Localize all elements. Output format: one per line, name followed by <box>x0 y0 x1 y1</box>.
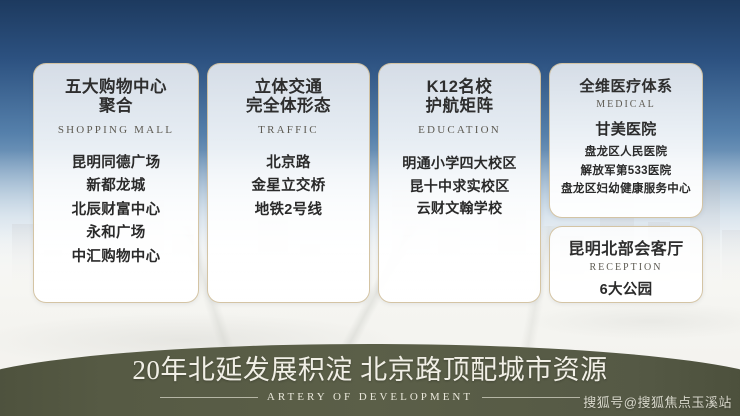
card-shopping-mall: 五大购物中心 聚合 SHOPPING MALL 昆明同德广场 新都龙城 北辰财富… <box>33 63 199 303</box>
list-item: 金星立交桥 <box>208 175 369 198</box>
list-item: 北辰财富中心 <box>34 199 198 222</box>
card-title-reception: 昆明北部会客厅 <box>550 241 702 260</box>
list-item: 云财文翰学校 <box>379 197 540 220</box>
list-item: 盘龙区人民医院 <box>550 143 702 161</box>
card-subtitle-reception: RECEPTION <box>550 262 702 273</box>
card-title-line1: 全维医疗体系 <box>550 78 702 96</box>
banner-rule-right <box>482 397 580 398</box>
card-title-shopping: 五大购物中心 聚合 <box>34 78 198 117</box>
card-medical: 全维医疗体系 MEDICAL 甘美医院 盘龙区人民医院 解放军第533医院 盘龙… <box>549 63 703 218</box>
card-subtitle-traffic: TRAFFIC <box>208 124 369 136</box>
card-title-medical: 全维医疗体系 <box>550 78 702 96</box>
list-item-lead: 甘美医院 <box>550 118 702 142</box>
card-items-medical: 甘美医院 盘龙区人民医院 解放军第533医院 盘龙区妇幼健康服务中心 <box>550 118 702 198</box>
card-title-line1: 立体交通 <box>208 78 369 97</box>
list-item: 昆明同德广场 <box>34 152 198 175</box>
list-item: 永和广场 <box>34 222 198 245</box>
banner-rule-left <box>160 397 258 398</box>
card-subtitle-shopping: SHOPPING MALL <box>34 124 198 136</box>
list-item: 地铁2号线 <box>208 199 369 222</box>
card-items-traffic: 北京路 金星立交桥 地铁2号线 <box>208 152 369 222</box>
card-reception: 昆明北部会客厅 RECEPTION 6大公园 <box>549 226 703 303</box>
card-title-traffic: 立体交通 完全体形态 <box>208 78 369 117</box>
card-title-line1: 五大购物中心 <box>34 78 198 97</box>
card-title-education: K12名校 护航矩阵 <box>379 78 540 117</box>
card-education: K12名校 护航矩阵 EDUCATION 明通小学四大校区 昆十中求实校区 云财… <box>378 63 541 303</box>
list-item: 昆十中求实校区 <box>379 175 540 198</box>
list-item: 盘龙区妇幼健康服务中心 <box>550 180 702 198</box>
banner-subtitle-row: ARTERY OF DEVELOPMENT <box>160 391 580 403</box>
card-title-line2: 护航矩阵 <box>379 97 540 116</box>
card-title-line1: 昆明北部会客厅 <box>550 241 702 260</box>
card-items-education: 明通小学四大校区 昆十中求实校区 云财文翰学校 <box>379 152 540 220</box>
list-item: 新都龙城 <box>34 175 198 198</box>
list-item: 中汇购物中心 <box>34 246 198 269</box>
list-item: 北京路 <box>208 152 369 175</box>
list-item: 6大公园 <box>550 279 702 302</box>
card-items-reception: 6大公园 <box>550 279 702 302</box>
list-item: 明通小学四大校区 <box>379 152 540 175</box>
card-title-line2: 完全体形态 <box>208 97 369 116</box>
resource-cards: 五大购物中心 聚合 SHOPPING MALL 昆明同德广场 新都龙城 北辰财富… <box>0 0 740 320</box>
card-traffic: 立体交通 完全体形态 TRAFFIC 北京路 金星立交桥 地铁2号线 <box>207 63 370 303</box>
card-title-line1: K12名校 <box>379 78 540 97</box>
banner-title: 20年北延发展积淀 北京路顶配城市资源 <box>132 357 607 384</box>
card-subtitle-education: EDUCATION <box>379 124 540 136</box>
banner-subtitle: ARTERY OF DEVELOPMENT <box>258 391 482 403</box>
watermark-text: 搜狐号@搜狐焦点玉溪站 <box>583 392 732 411</box>
bottom-banner: 20年北延发展积淀 北京路顶配城市资源 ARTERY OF DEVELOPMEN… <box>0 344 740 416</box>
card-subtitle-medical: MEDICAL <box>550 99 702 110</box>
card-title-line2: 聚合 <box>34 97 198 116</box>
card-items-shopping: 昆明同德广场 新都龙城 北辰财富中心 永和广场 中汇购物中心 <box>34 152 198 269</box>
list-item: 解放军第533医院 <box>550 162 702 180</box>
